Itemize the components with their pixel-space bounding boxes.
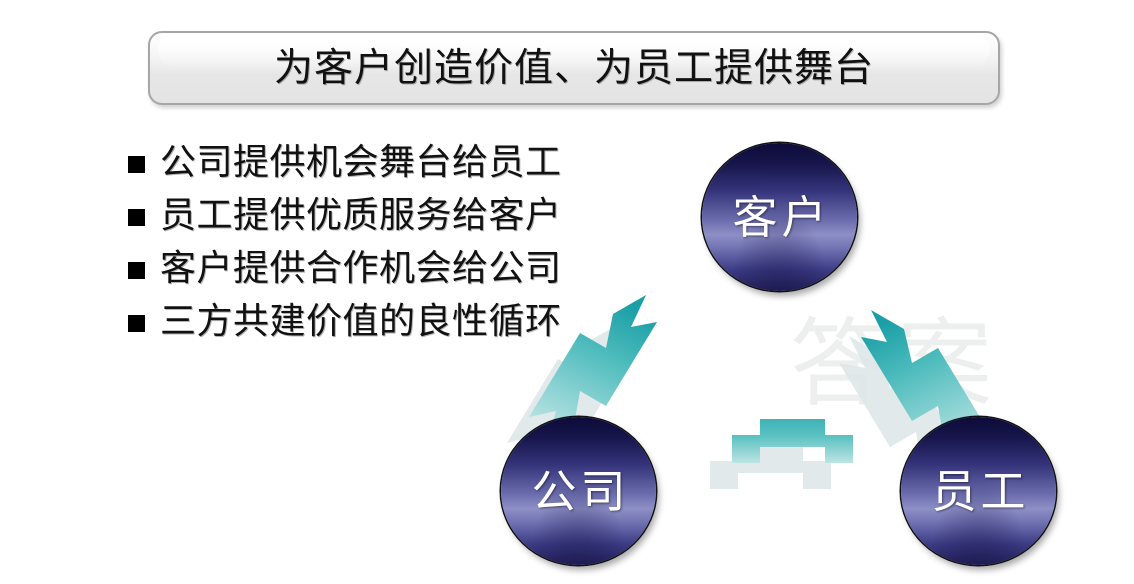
square-bullet-icon <box>128 262 145 279</box>
node-customer-label: 客户 <box>728 195 830 240</box>
square-bullet-icon <box>128 156 145 173</box>
title-banner: 为客户创造价值、为员工提供舞台 <box>148 31 1000 105</box>
node-company-label: 公司 <box>527 469 629 514</box>
node-employee-label: 员工 <box>927 469 1029 514</box>
square-bullet-icon <box>128 315 145 332</box>
connector-shadow <box>710 445 831 489</box>
connector-company-employee <box>710 419 853 489</box>
node-employee[interactable]: 员工 <box>901 417 1056 565</box>
page-title: 为客户创造价值、为员工提供舞台 <box>274 49 874 88</box>
node-company[interactable]: 公司 <box>501 417 656 565</box>
node-customer[interactable]: 客户 <box>702 143 857 291</box>
cycle-diagram: 答案 <box>470 120 1134 584</box>
square-bullet-icon <box>128 209 145 226</box>
